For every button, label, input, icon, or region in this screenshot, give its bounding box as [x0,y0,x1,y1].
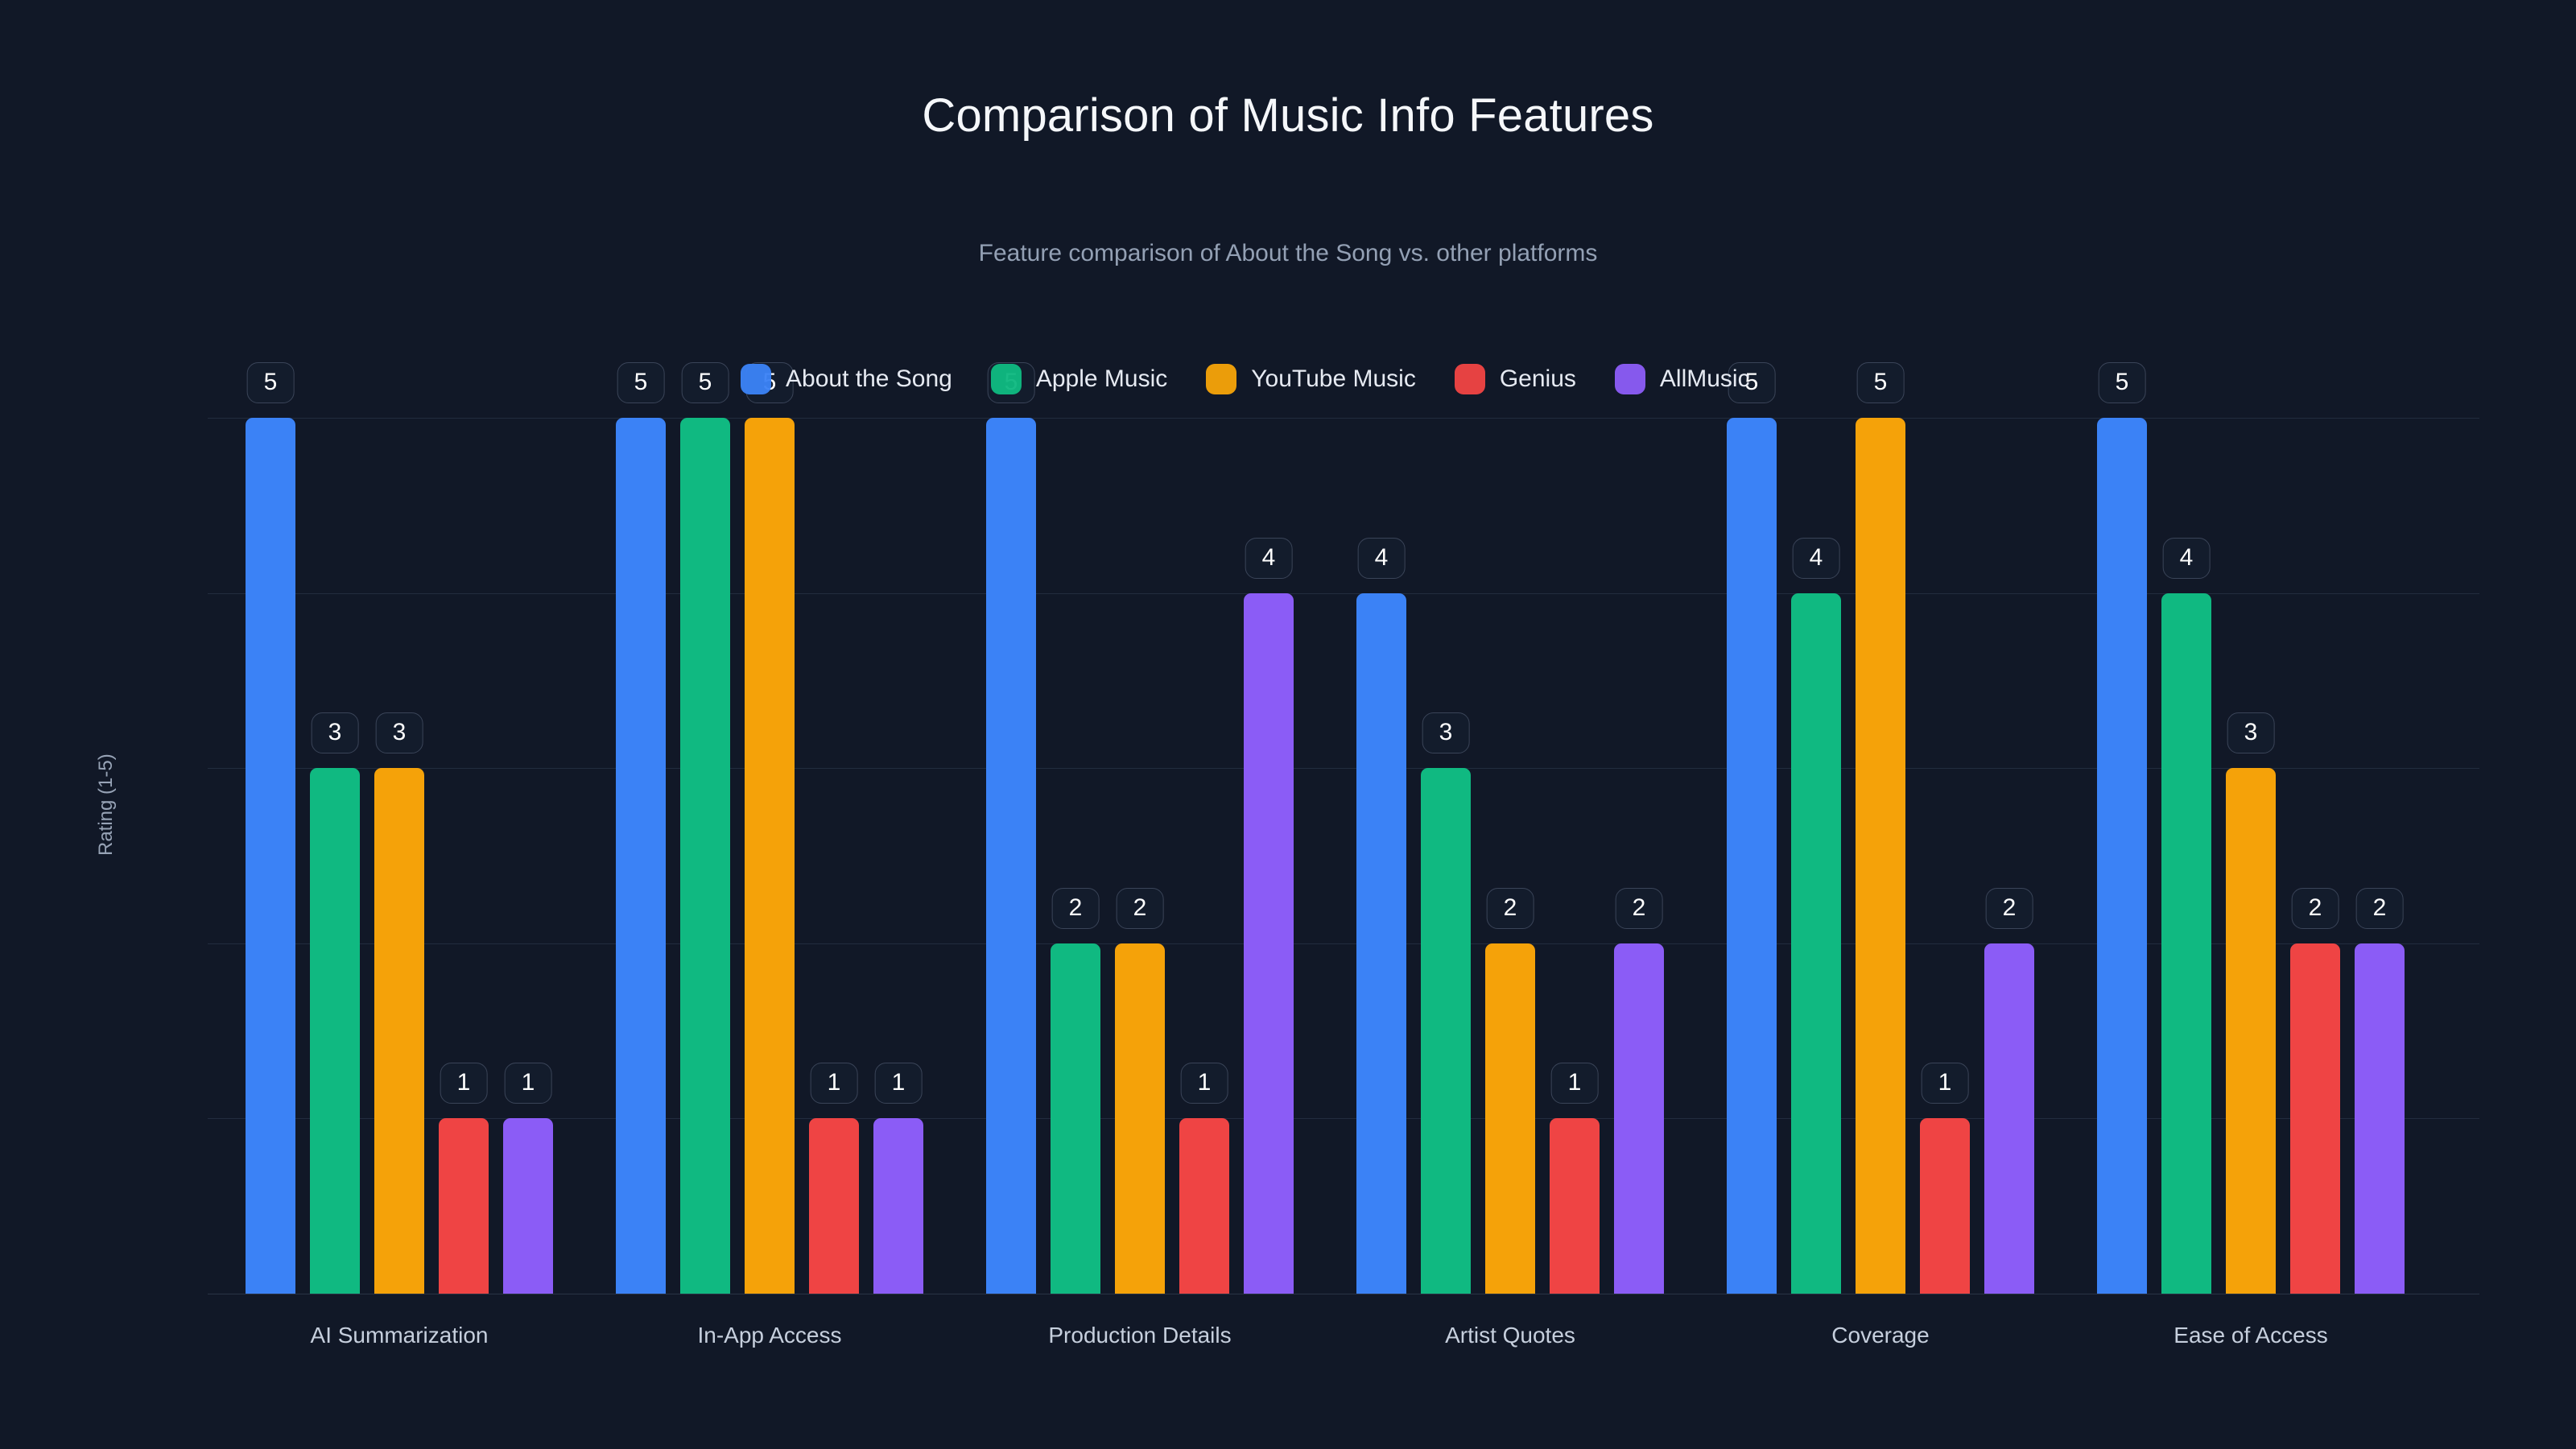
bar-group: 55511 [616,418,923,1294]
bar-value-label: 1 [1922,1063,1969,1104]
legend-item-apple-music[interactable]: Apple Music [991,364,1167,394]
gridline [208,1294,2479,1294]
bar[interactable] [986,418,1036,1294]
bar-group: 52214 [986,418,1294,1294]
bar[interactable] [873,1118,923,1294]
bar-value-label: 3 [1422,712,1470,753]
bar[interactable] [246,418,295,1294]
bar-value-label: 2 [1117,888,1164,929]
bar[interactable] [1356,593,1406,1294]
x-tick-label: Artist Quotes [1445,1323,1575,1348]
bar-groups: 533115551152214432125451254322 [208,418,2479,1294]
legend-swatch-icon [741,364,771,394]
legend-item-genius[interactable]: Genius [1455,364,1576,394]
x-tick-label: In-App Access [698,1323,842,1348]
legend-label: Genius [1500,365,1576,393]
bar-group: 43212 [1356,418,1664,1294]
bar-value-label: 5 [2099,362,2146,403]
bar-value-label: 2 [2356,888,2404,929]
y-axis-label: Rating (1-5) [95,753,118,856]
bar-group: 54512 [1727,418,2034,1294]
bar[interactable] [1920,1118,1970,1294]
bar[interactable] [1115,943,1165,1294]
legend-swatch-icon [991,364,1022,394]
x-tick-label: Ease of Access [2173,1323,2327,1348]
bar[interactable] [2290,943,2340,1294]
bar[interactable] [439,1118,489,1294]
bar-value-label: 2 [1052,888,1100,929]
chart-subtitle: Feature comparison of About the Song vs.… [0,240,2576,267]
legend-label: Apple Music [1036,365,1167,393]
chart-canvas: Comparison of Music Info Features Featur… [0,0,2576,1449]
x-tick-label: Production Details [1048,1323,1231,1348]
bar-value-label: 4 [1245,538,1293,579]
bar-value-label: 2 [1986,888,2033,929]
legend-item-allmusic[interactable]: AllMusic [1615,364,1750,394]
bar-value-label: 1 [875,1063,923,1104]
bar-value-label: 3 [2227,712,2275,753]
chart-title: Comparison of Music Info Features [0,89,2576,142]
plot-area: 533115551152214432125451254322 [208,418,2479,1294]
bar-value-label: 4 [1793,538,1840,579]
bar[interactable] [310,768,360,1294]
bar-value-label: 1 [440,1063,488,1104]
bar[interactable] [1727,418,1777,1294]
bar[interactable] [2226,768,2276,1294]
bar[interactable] [1051,943,1100,1294]
legend-label: YouTube Music [1251,365,1416,393]
bar[interactable] [809,1118,859,1294]
legend-swatch-icon [1455,364,1485,394]
legend-swatch-icon [1615,364,1645,394]
legend-label: About the Song [786,365,952,393]
bar[interactable] [2161,593,2211,1294]
bar[interactable] [374,768,424,1294]
bar[interactable] [503,1118,553,1294]
bar-value-label: 5 [617,362,665,403]
bar-value-label: 1 [1181,1063,1228,1104]
bar-value-label: 1 [505,1063,552,1104]
bar-value-label: 1 [1551,1063,1599,1104]
bar-value-label: 3 [312,712,359,753]
bar[interactable] [616,418,666,1294]
bar[interactable] [1485,943,1535,1294]
bar[interactable] [1421,768,1471,1294]
bar-value-label: 2 [2292,888,2339,929]
bar[interactable] [1984,943,2034,1294]
bar-value-label: 2 [1616,888,1663,929]
legend-swatch-icon [1206,364,1236,394]
bar-value-label: 3 [376,712,423,753]
legend-item-youtube-music[interactable]: YouTube Music [1206,364,1416,394]
bar-value-label: 5 [682,362,729,403]
bar[interactable] [2097,418,2147,1294]
bar[interactable] [1244,593,1294,1294]
bar-value-label: 5 [1857,362,1905,403]
bar-value-label: 4 [2163,538,2211,579]
bar[interactable] [1614,943,1664,1294]
bar-value-label: 4 [1358,538,1406,579]
bar[interactable] [1791,593,1841,1294]
legend-item-about-the-song[interactable]: About the Song [741,364,952,394]
bar[interactable] [680,418,730,1294]
chart-legend: About the SongApple MusicYouTube MusicGe… [741,364,1789,394]
bar-value-label: 1 [811,1063,858,1104]
bar-value-label: 2 [1487,888,1534,929]
bar-group: 53311 [246,418,553,1294]
bar[interactable] [745,418,795,1294]
bar-group: 54322 [2097,418,2405,1294]
x-tick-label: Coverage [1831,1323,1929,1348]
x-tick-label: AI Summarization [311,1323,489,1348]
bar[interactable] [2355,943,2405,1294]
legend-label: AllMusic [1660,365,1750,393]
bar-value-label: 5 [247,362,295,403]
bar[interactable] [1550,1118,1600,1294]
bar[interactable] [1179,1118,1229,1294]
bar[interactable] [1856,418,1905,1294]
